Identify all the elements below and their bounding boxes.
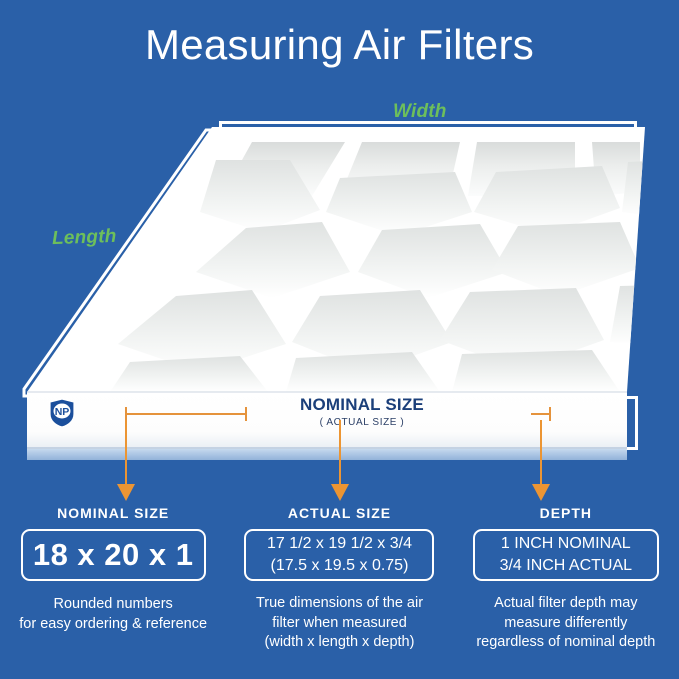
infographic-page: Measuring Air Filters Width Length Depth [0, 0, 679, 679]
caption-actual-line3: (width x length x depth) [256, 633, 423, 653]
column-title-actual: ACTUAL SIZE [288, 505, 391, 521]
value-box-actual: 17 1/2 x 19 1/2 x 3/4 (17.5 x 19.5 x 0.7… [244, 529, 434, 581]
arrow-head-depth [532, 484, 550, 501]
column-depth: DEPTH 1 INCH NOMINAL 3/4 INCH ACTUAL Act… [453, 505, 679, 679]
caption-actual-line2: filter when measured [256, 614, 423, 634]
arrow-head-nominal [117, 484, 135, 501]
caption-nominal-line1: Rounded numbers [19, 595, 207, 615]
value-actual-line2: (17.5 x 19.5 x 0.75) [246, 555, 432, 577]
column-actual-size: ACTUAL SIZE 17 1/2 x 19 1/2 x 3/4 (17.5 … [226, 505, 452, 679]
caption-nominal-line2: for easy ordering & reference [19, 615, 207, 635]
column-nominal-size: NOMINAL SIZE 18 x 20 x 1 Rounded numbers… [0, 505, 226, 679]
caption-depth-line3: regardless of nominal depth [476, 633, 655, 653]
caption-depth: Actual filter depth may measure differen… [476, 594, 655, 653]
value-nominal-line1: 18 x 20 x 1 [23, 537, 204, 573]
caption-nominal: Rounded numbers for easy ordering & refe… [19, 595, 207, 634]
value-actual-line1: 17 1/2 x 19 1/2 x 3/4 [246, 533, 432, 555]
arrow-head-actual [331, 484, 349, 501]
depth-leader-tick [549, 407, 551, 421]
np-shield-logo: NP [48, 398, 76, 428]
value-depth-line2: 3/4 INCH ACTUAL [475, 555, 657, 577]
caption-depth-line1: Actual filter depth may [476, 594, 655, 614]
arrow-line-depth [540, 420, 542, 486]
value-box-depth: 1 INCH NOMINAL 3/4 INCH ACTUAL [473, 529, 659, 581]
caption-depth-line2: measure differently [476, 614, 655, 634]
depth-leader-line [531, 413, 551, 415]
value-box-nominal: 18 x 20 x 1 [21, 529, 206, 581]
air-filter-illustration [0, 100, 679, 460]
page-title: Measuring Air Filters [0, 22, 679, 68]
svg-text:NP: NP [55, 406, 70, 418]
value-depth-line1: 1 INCH NOMINAL [475, 533, 657, 555]
caption-actual: True dimensions of the air filter when m… [256, 594, 423, 653]
summary-columns: NOMINAL SIZE 18 x 20 x 1 Rounded numbers… [0, 505, 679, 679]
caption-actual-line1: True dimensions of the air [256, 594, 423, 614]
arrow-line-actual [339, 420, 341, 486]
nominal-size-leader-tick-left [125, 407, 127, 421]
column-title-nominal: NOMINAL SIZE [57, 505, 169, 521]
nominal-size-leader-line [125, 413, 247, 415]
column-title-depth: DEPTH [540, 505, 592, 521]
arrow-line-nominal [125, 420, 127, 486]
nominal-size-leader-tick-right [245, 407, 247, 421]
